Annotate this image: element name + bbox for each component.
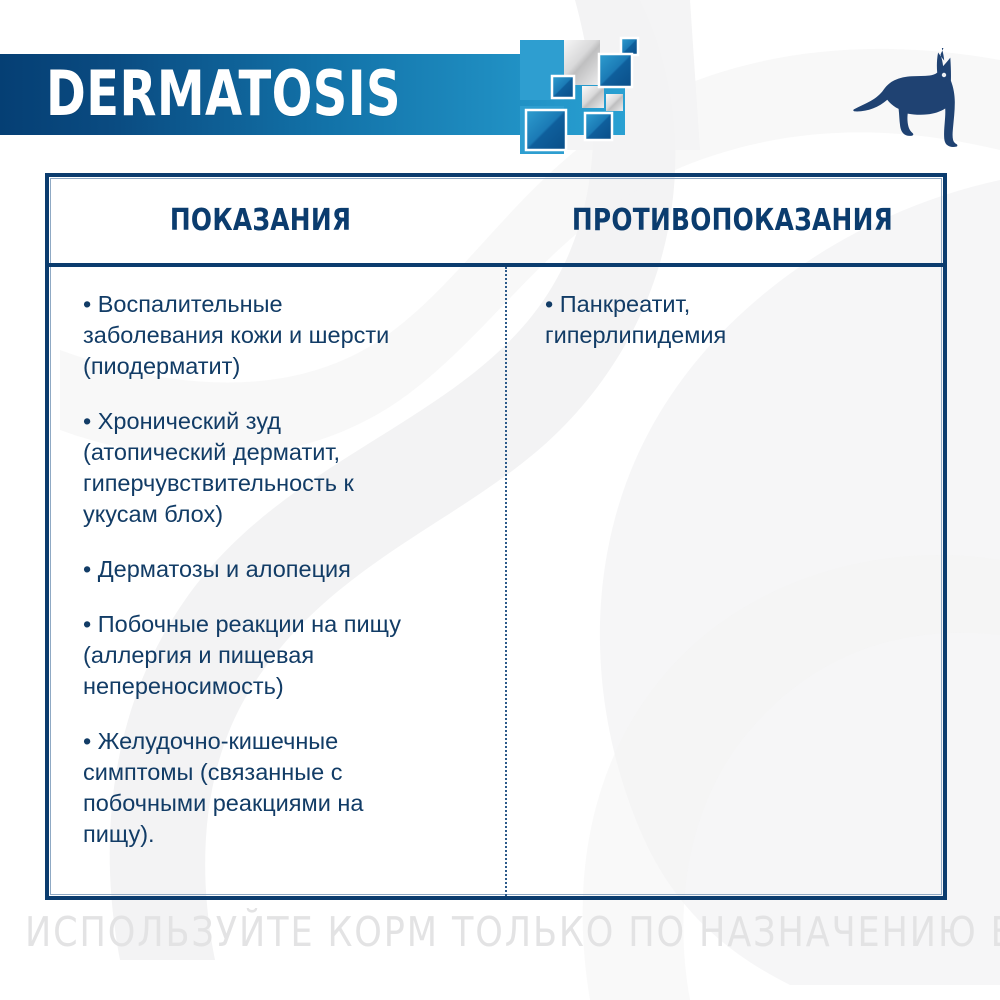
- list-item: • Побочные реакции на пищу (аллергия и п…: [83, 609, 487, 702]
- list-item: • Дерматозы и алопеция: [83, 554, 487, 585]
- page-title: DERMATOSIS: [46, 50, 401, 138]
- list-item: • Желудочно-кишечные симптомы (связанные…: [83, 726, 487, 850]
- list-item: • Воспалительные заболевания кожи и шерс…: [83, 289, 487, 382]
- list-item: • Панкреатит, гиперлипидемия: [545, 289, 925, 351]
- list-item: • Хронический зуд (атопический дерматит,…: [83, 406, 487, 530]
- footer-disclaimer: ИСПОЛЬЗУЙТЕ КОРМ ТОЛЬКО ПО НАЗНАЧЕНИЮ ВР…: [25, 908, 975, 956]
- slide-canvas: DERMATOSIS: [0, 0, 1000, 1000]
- table-header-row: ПОКАЗАНИЯ ПРОТИВОПОКАЗАНИЯ: [49, 177, 943, 263]
- table-body: • Воспалительные заболевания кожи и шерс…: [49, 267, 943, 896]
- column-contraindications: • Панкреатит, гиперлипидемия: [505, 267, 943, 896]
- column-header-contraindications: ПРОТИВОПОКАЗАНИЯ: [526, 177, 925, 263]
- column-indications: • Воспалительные заболевания кожи и шерс…: [49, 267, 505, 896]
- column-header-indications: ПОКАЗАНИЯ: [67, 177, 490, 263]
- indications-table: ПОКАЗАНИЯ ПРОТИВОПОКАЗАНИЯ • Воспалитель…: [45, 173, 947, 900]
- cat-silhouette-icon: [845, 48, 970, 156]
